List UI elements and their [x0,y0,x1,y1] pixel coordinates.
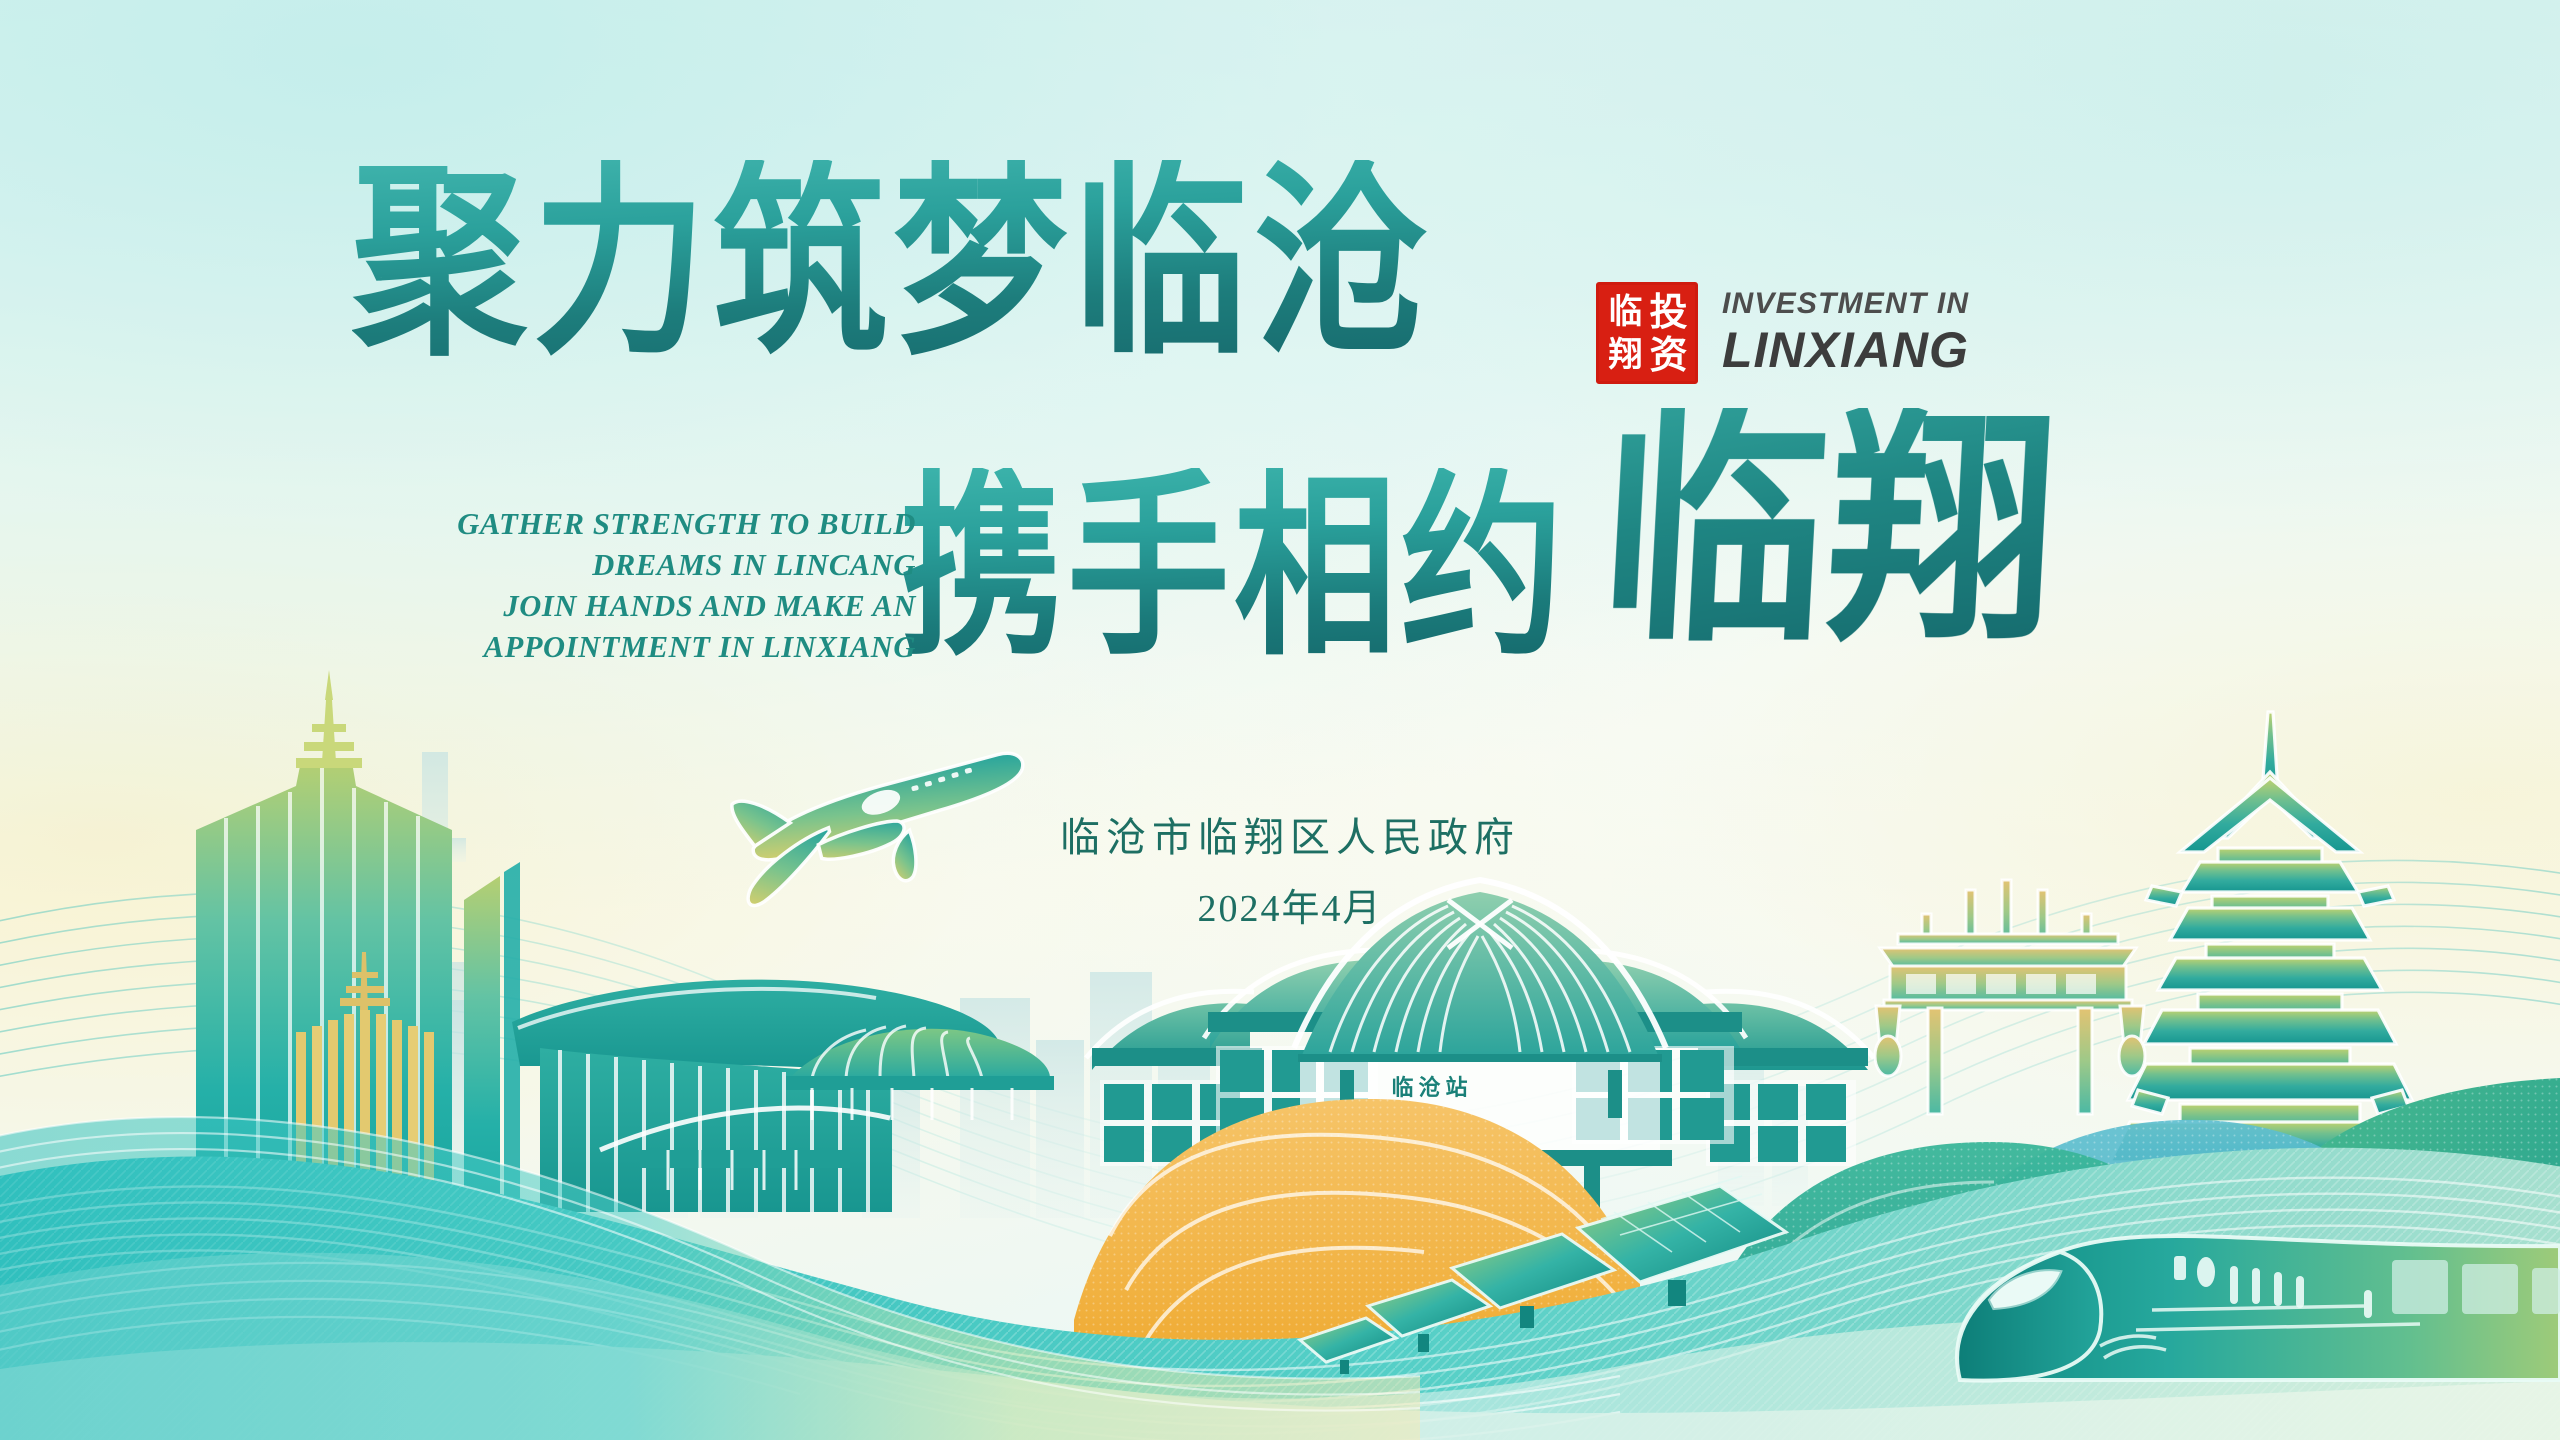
brand-english: INVESTMENT IN LINXIANG [1722,286,1969,378]
brand-english-line-1: INVESTMENT IN [1722,286,1969,322]
issuer-date: 2024年4月 [1060,890,1520,928]
title-line-2: 携手相约 [900,468,1567,666]
brandmark: 临 投 翔 资 INVESTMENT IN LINXIANG [1596,282,2016,400]
english-line-3: JOIN HANDS AND MAKE AN [456,586,916,627]
issuer-name: 临沧市临翔区人民政府 [1060,818,1520,858]
seal-char-3: 翔 [1609,338,1643,372]
seal-char-4: 资 [1649,336,1687,374]
investment-poster: 聚力筑梦临沧 携手相约 临翔 GATHER STRENGTH TO BUILD … [0,0,2560,1440]
red-seal-stamp: 临 投 翔 资 [1596,282,1698,384]
seal-char-2: 投 [1649,293,1687,331]
english-line-1: GATHER STRENGTH TO BUILD [456,504,916,545]
english-line-4: APPOINTMENT IN LINXIANG [456,627,916,668]
english-tagline-block: GATHER STRENGTH TO BUILD DREAMS IN LINCA… [456,504,916,668]
brand-english-line-2: LINXIANG [1722,322,1969,378]
english-line-2: DREAMS IN LINCANG [456,545,916,586]
title-line-1: 聚力筑梦临沧 [352,160,1434,366]
station-name-sign: 临沧站 [1352,1078,1512,1100]
brush-calligraphy-linxiang: 临翔 [1595,408,2064,657]
seal-char-1: 临 [1609,295,1643,329]
